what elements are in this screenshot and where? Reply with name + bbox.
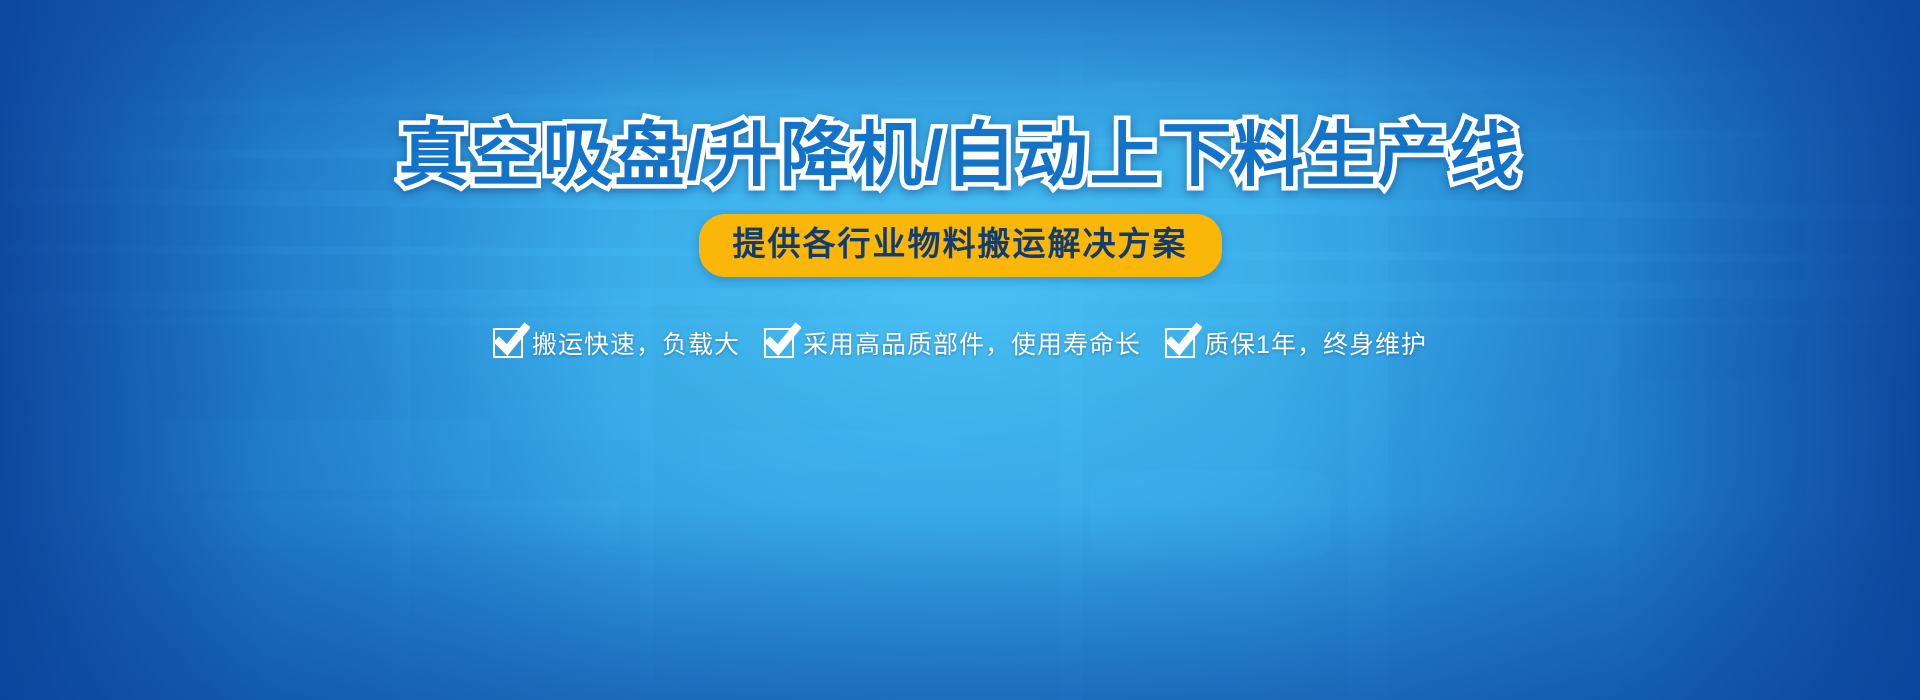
feature-item-label: 搬运快速，负载大 <box>532 325 740 361</box>
hero-banner: 真空吸盘/升降机/自动上下料生产线 提供各行业物料搬运解决方案 搬运快速，负载大 <box>0 0 1920 700</box>
feature-list: 搬运快速，负载大 采用高品质部件，使用寿命长 质保1年，终身维护 <box>493 325 1427 361</box>
banner-title: 真空吸盘/升降机/自动上下料生产线 <box>399 118 1522 192</box>
feature-item-label: 质保1年，终身维护 <box>1204 325 1427 361</box>
feature-item-3: 质保1年，终身维护 <box>1165 325 1427 361</box>
checkbox-check-icon <box>1165 328 1195 358</box>
subtitle-pill: 提供各行业物料搬运解决方案 <box>699 214 1222 277</box>
feature-item-label: 采用高品质部件，使用寿命长 <box>803 325 1141 361</box>
feature-item-1: 搬运快速，负载大 <box>493 325 740 361</box>
subtitle-pill-label: 提供各行业物料搬运解决方案 <box>733 224 1188 264</box>
banner-content: 真空吸盘/升降机/自动上下料生产线 提供各行业物料搬运解决方案 搬运快速，负载大 <box>0 0 1920 700</box>
checkbox-check-icon <box>764 328 794 358</box>
feature-item-2: 采用高品质部件，使用寿命长 <box>764 325 1141 361</box>
checkbox-check-icon <box>493 328 523 358</box>
